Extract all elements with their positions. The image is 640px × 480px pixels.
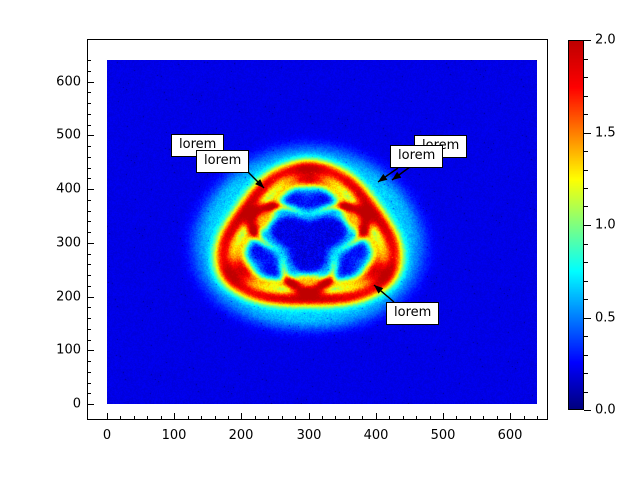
y-axis-major-tick [87, 404, 94, 405]
x-axis-major-tick [309, 413, 310, 420]
y-axis-minor-tick [87, 361, 91, 362]
x-axis-minor-tick [147, 416, 148, 420]
x-axis-minor-tick [161, 416, 162, 420]
colorbar-minor-tick [584, 299, 588, 300]
y-axis-tick-label: 100 [36, 343, 81, 358]
y-axis-tick-label: 200 [36, 290, 81, 305]
x-axis-tick-label: 100 [162, 428, 187, 443]
colorbar-major-tick [584, 133, 591, 134]
y-axis-tick-label: 400 [36, 182, 81, 197]
x-axis-major-tick [510, 413, 511, 420]
heatmap-image [107, 60, 537, 404]
x-axis-minor-tick [362, 416, 363, 420]
x-axis-major-tick [107, 413, 108, 420]
x-axis-major-tick [241, 413, 242, 420]
colorbar-tick-label: 0.5 [595, 311, 616, 326]
x-axis-minor-tick [282, 416, 283, 420]
colorbar-minor-tick [584, 59, 588, 60]
y-axis-major-tick [87, 135, 94, 136]
y-axis-major-tick [87, 189, 94, 190]
colorbar-minor-tick [584, 170, 588, 171]
colorbar-major-tick [584, 318, 591, 319]
colorbar-minor-tick [584, 355, 588, 356]
x-axis-minor-tick [430, 416, 431, 420]
x-axis-minor-tick [349, 416, 350, 420]
y-axis-minor-tick [87, 318, 91, 319]
y-axis-minor-tick [87, 254, 91, 255]
x-axis-minor-tick [268, 416, 269, 420]
x-axis-minor-tick [215, 416, 216, 420]
colorbar-minor-tick [584, 96, 588, 97]
annotation-right-front[interactable]: lorem [390, 145, 443, 168]
y-axis-minor-tick [87, 114, 91, 115]
colorbar-minor-tick [584, 336, 588, 337]
colorbar-major-tick [584, 410, 591, 411]
x-axis-minor-tick [497, 416, 498, 420]
x-axis-major-tick [376, 413, 377, 420]
colorbar-tick-label: 1.0 [595, 218, 616, 233]
x-axis-tick-label: 300 [297, 428, 322, 443]
colorbar-tick-label: 0.0 [595, 403, 616, 418]
heatmap-canvas [107, 60, 537, 404]
x-axis-minor-tick [403, 416, 404, 420]
y-axis-minor-tick [87, 275, 91, 276]
y-axis-minor-tick [87, 264, 91, 265]
y-axis-minor-tick [87, 157, 91, 158]
annotation-bottom[interactable]: lorem [386, 302, 439, 325]
x-axis-minor-tick [201, 416, 202, 420]
x-axis-minor-tick [188, 416, 189, 420]
x-axis-tick-label: 200 [229, 428, 254, 443]
y-axis-minor-tick [87, 232, 91, 233]
y-axis-minor-tick [87, 383, 91, 384]
y-axis-minor-tick [87, 168, 91, 169]
y-axis-minor-tick [87, 200, 91, 201]
colorbar-tick-label: 1.5 [595, 126, 616, 141]
colorbar-canvas [569, 41, 583, 409]
y-axis-minor-tick [87, 340, 91, 341]
colorbar-minor-tick [584, 151, 588, 152]
x-axis-tick-label: 0 [103, 428, 111, 443]
y-axis-minor-tick [87, 307, 91, 308]
x-axis-tick-label: 600 [498, 428, 523, 443]
colorbar-major-tick [584, 225, 591, 226]
x-axis-minor-tick [524, 416, 525, 420]
x-axis-minor-tick [416, 416, 417, 420]
y-axis-minor-tick [87, 71, 91, 72]
x-axis-minor-tick [335, 416, 336, 420]
colorbar-minor-tick [584, 188, 588, 189]
x-axis-minor-tick [228, 416, 229, 420]
x-axis-minor-tick [456, 416, 457, 420]
x-axis-minor-tick [470, 416, 471, 420]
colorbar-gradient [568, 40, 584, 410]
x-axis-minor-tick [120, 416, 121, 420]
y-axis-minor-tick [87, 60, 91, 61]
colorbar-minor-tick [584, 392, 588, 393]
y-axis-minor-tick [87, 221, 91, 222]
y-axis-tick-label: 500 [36, 128, 81, 143]
x-axis-minor-tick [389, 416, 390, 420]
x-axis-major-tick [443, 413, 444, 420]
x-axis-minor-tick [483, 416, 484, 420]
y-axis-major-tick [87, 243, 94, 244]
y-axis-minor-tick [87, 393, 91, 394]
x-axis-minor-tick [537, 416, 538, 420]
y-axis-minor-tick [87, 286, 91, 287]
x-axis-minor-tick [255, 416, 256, 420]
colorbar-minor-tick [584, 206, 588, 207]
y-axis-tick-label: 300 [36, 236, 81, 251]
intensity-colorbar: 0.00.51.01.52.0 [568, 40, 584, 410]
colorbar-tick-label: 2.0 [595, 33, 616, 48]
x-axis-minor-tick [322, 416, 323, 420]
y-axis-minor-tick [87, 146, 91, 147]
y-axis-major-tick [87, 82, 94, 83]
colorbar-minor-tick [584, 77, 588, 78]
x-axis-tick-label: 400 [364, 428, 389, 443]
colorbar-minor-tick [584, 114, 588, 115]
x-axis-major-tick [174, 413, 175, 420]
x-axis-minor-tick [134, 416, 135, 420]
y-axis-major-tick [87, 297, 94, 298]
colorbar-minor-tick [584, 281, 588, 282]
colorbar-major-tick [584, 40, 591, 41]
figure-canvas: 01002003004005006000100200300400500600 0… [0, 0, 640, 480]
y-axis-tick-label: 0 [36, 397, 81, 412]
y-axis-minor-tick [87, 372, 91, 373]
y-axis-minor-tick [87, 92, 91, 93]
y-axis-major-tick [87, 350, 94, 351]
y-axis-minor-tick [87, 211, 91, 212]
colorbar-minor-tick [584, 244, 588, 245]
y-axis-minor-tick [87, 178, 91, 179]
colorbar-minor-tick [584, 262, 588, 263]
x-axis-tick-label: 500 [431, 428, 456, 443]
colorbar-minor-tick [584, 373, 588, 374]
annotation-left-front[interactable]: lorem [196, 150, 249, 173]
y-axis-minor-tick [87, 125, 91, 126]
y-axis-tick-label: 600 [36, 75, 81, 90]
y-axis-minor-tick [87, 329, 91, 330]
x-axis-minor-tick [295, 416, 296, 420]
y-axis-minor-tick [87, 103, 91, 104]
